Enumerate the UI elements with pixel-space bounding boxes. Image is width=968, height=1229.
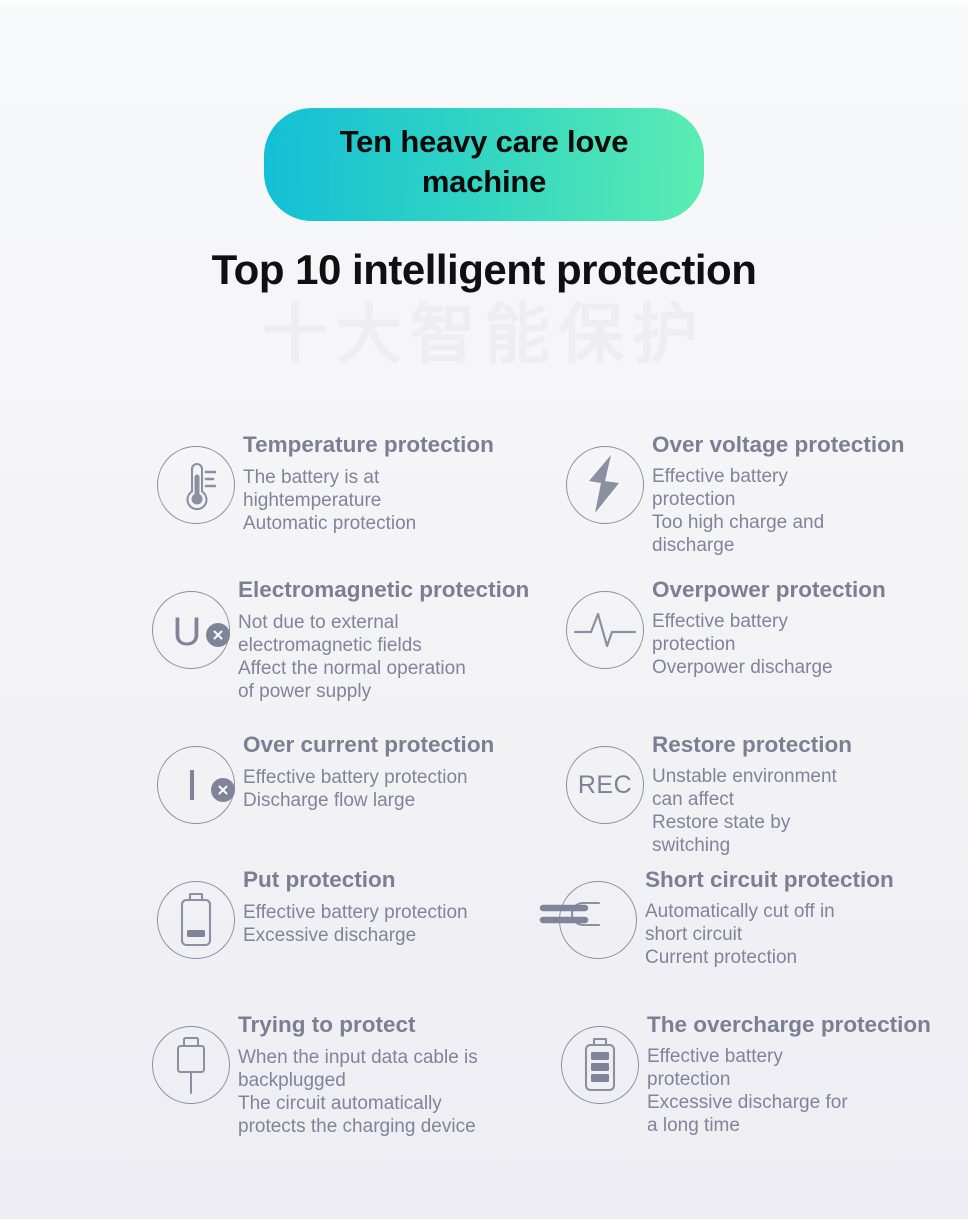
feature-text: Electromagnetic protection Not due to ex… [238, 573, 529, 703]
feature-description: The battery is at hightemperature Automa… [243, 466, 494, 536]
feature-title: Temperature protection [243, 432, 494, 459]
icon-wrap [566, 428, 646, 508]
feature-description: Effective battery protection Discharge f… [243, 766, 494, 812]
feature-description: Unstable environment can affect Restore … [652, 765, 852, 858]
feature-item-over-current-protection: I Over current protection Effective batt… [157, 728, 494, 812]
usb-connector-icon [152, 1026, 230, 1104]
feature-item-over-voltage-protection: Over voltage protection Effective batter… [566, 428, 905, 557]
feature-title: Over current protection [243, 732, 494, 759]
pulse-waveform-icon [566, 591, 644, 669]
feature-item-electromagnetic-protection: U Electromagnetic protection Not due to … [152, 573, 529, 703]
icon-wrap [561, 1008, 641, 1088]
watermark-text: 十大智能保护 [0, 281, 968, 377]
feature-text: Over current protection Effective batter… [243, 728, 494, 812]
feature-text: Over voltage protection Effective batter… [652, 428, 905, 557]
feature-text: Trying to protect When the input data ca… [238, 1008, 478, 1138]
feature-title: Electromagnetic protection [238, 577, 529, 604]
feature-description: When the input data cable is backplugged… [238, 1046, 478, 1139]
feature-title: Trying to protect [238, 1012, 478, 1039]
thermometer-icon [157, 446, 235, 524]
feature-item-trying-to-protect: Trying to protect When the input data ca… [152, 1008, 478, 1138]
feature-text: Temperature protection The battery is at… [243, 428, 494, 535]
feature-item-restore-protection: REC Restore protection Unstable environm… [566, 728, 852, 857]
feature-title: Over voltage protection [652, 432, 905, 459]
icon-wrap [157, 428, 237, 508]
icon-wrap [157, 863, 237, 943]
close-icon [206, 623, 230, 647]
icon-wrap: U [152, 573, 232, 653]
feature-item-put-protection: Put protection Effective battery protect… [157, 863, 468, 947]
feature-description: Effective battery protection Excessive d… [647, 1045, 931, 1138]
icon-wrap: I [157, 728, 237, 808]
icon-letter-label: U [173, 612, 202, 652]
features-grid: Temperature protection The battery is at… [0, 428, 968, 1188]
rec-icon: REC [566, 746, 644, 824]
plug-prongs-icon [559, 881, 637, 959]
heading-block: 十大智能保护 Top 10 intelligent protection [0, 247, 968, 339]
battery-low-icon [157, 881, 235, 959]
feature-title: Restore protection [652, 732, 852, 759]
feature-text: The overcharge protection Effective batt… [647, 1008, 931, 1137]
feature-description: Not due to external electromagnetic fiel… [238, 611, 529, 704]
icon-wrap: REC [566, 728, 646, 808]
page-header: Ten heavy care love machine 十大智能保护 Top 1… [0, 0, 968, 339]
page-title: Top 10 intelligent protection [0, 247, 968, 293]
feature-title: Overpower protection [652, 577, 886, 604]
battery-full-icon [561, 1026, 639, 1104]
icon-letter-label: I [186, 764, 198, 808]
feature-text: Restore protection Unstable environment … [652, 728, 852, 857]
feature-title: Short circuit protection [645, 867, 894, 894]
feature-item-overpower-protection: Overpower protection Effective battery p… [566, 573, 886, 679]
feature-description: Effective battery protection Overpower d… [652, 610, 886, 680]
feature-text: Short circuit protection Automatically c… [645, 863, 894, 969]
feature-description: Automatically cut off in short circuit C… [645, 900, 894, 970]
feature-item-temperature-protection: Temperature protection The battery is at… [157, 428, 494, 535]
feature-description: Effective battery protection Excessive d… [243, 901, 468, 947]
feature-title: The overcharge protection [647, 1012, 931, 1039]
close-icon [211, 778, 235, 802]
feature-title: Put protection [243, 867, 468, 894]
icon-text-label: REC [578, 771, 632, 800]
feature-item-overcharge-protection: The overcharge protection Effective batt… [561, 1008, 931, 1137]
header-badge-pill: Ten heavy care love machine [264, 108, 704, 221]
feature-text: Put protection Effective battery protect… [243, 863, 468, 947]
lightning-bolt-icon [566, 446, 644, 524]
icon-wrap [566, 573, 646, 653]
icon-wrap [152, 1008, 232, 1088]
feature-text: Overpower protection Effective battery p… [652, 573, 886, 679]
feature-description: Effective battery protection Too high ch… [652, 465, 905, 558]
promo-page: Ten heavy care love machine 十大智能保护 Top 1… [0, 0, 968, 1229]
icon-wrap [559, 863, 639, 943]
feature-item-short-circuit-protection: Short circuit protection Automatically c… [559, 863, 894, 969]
